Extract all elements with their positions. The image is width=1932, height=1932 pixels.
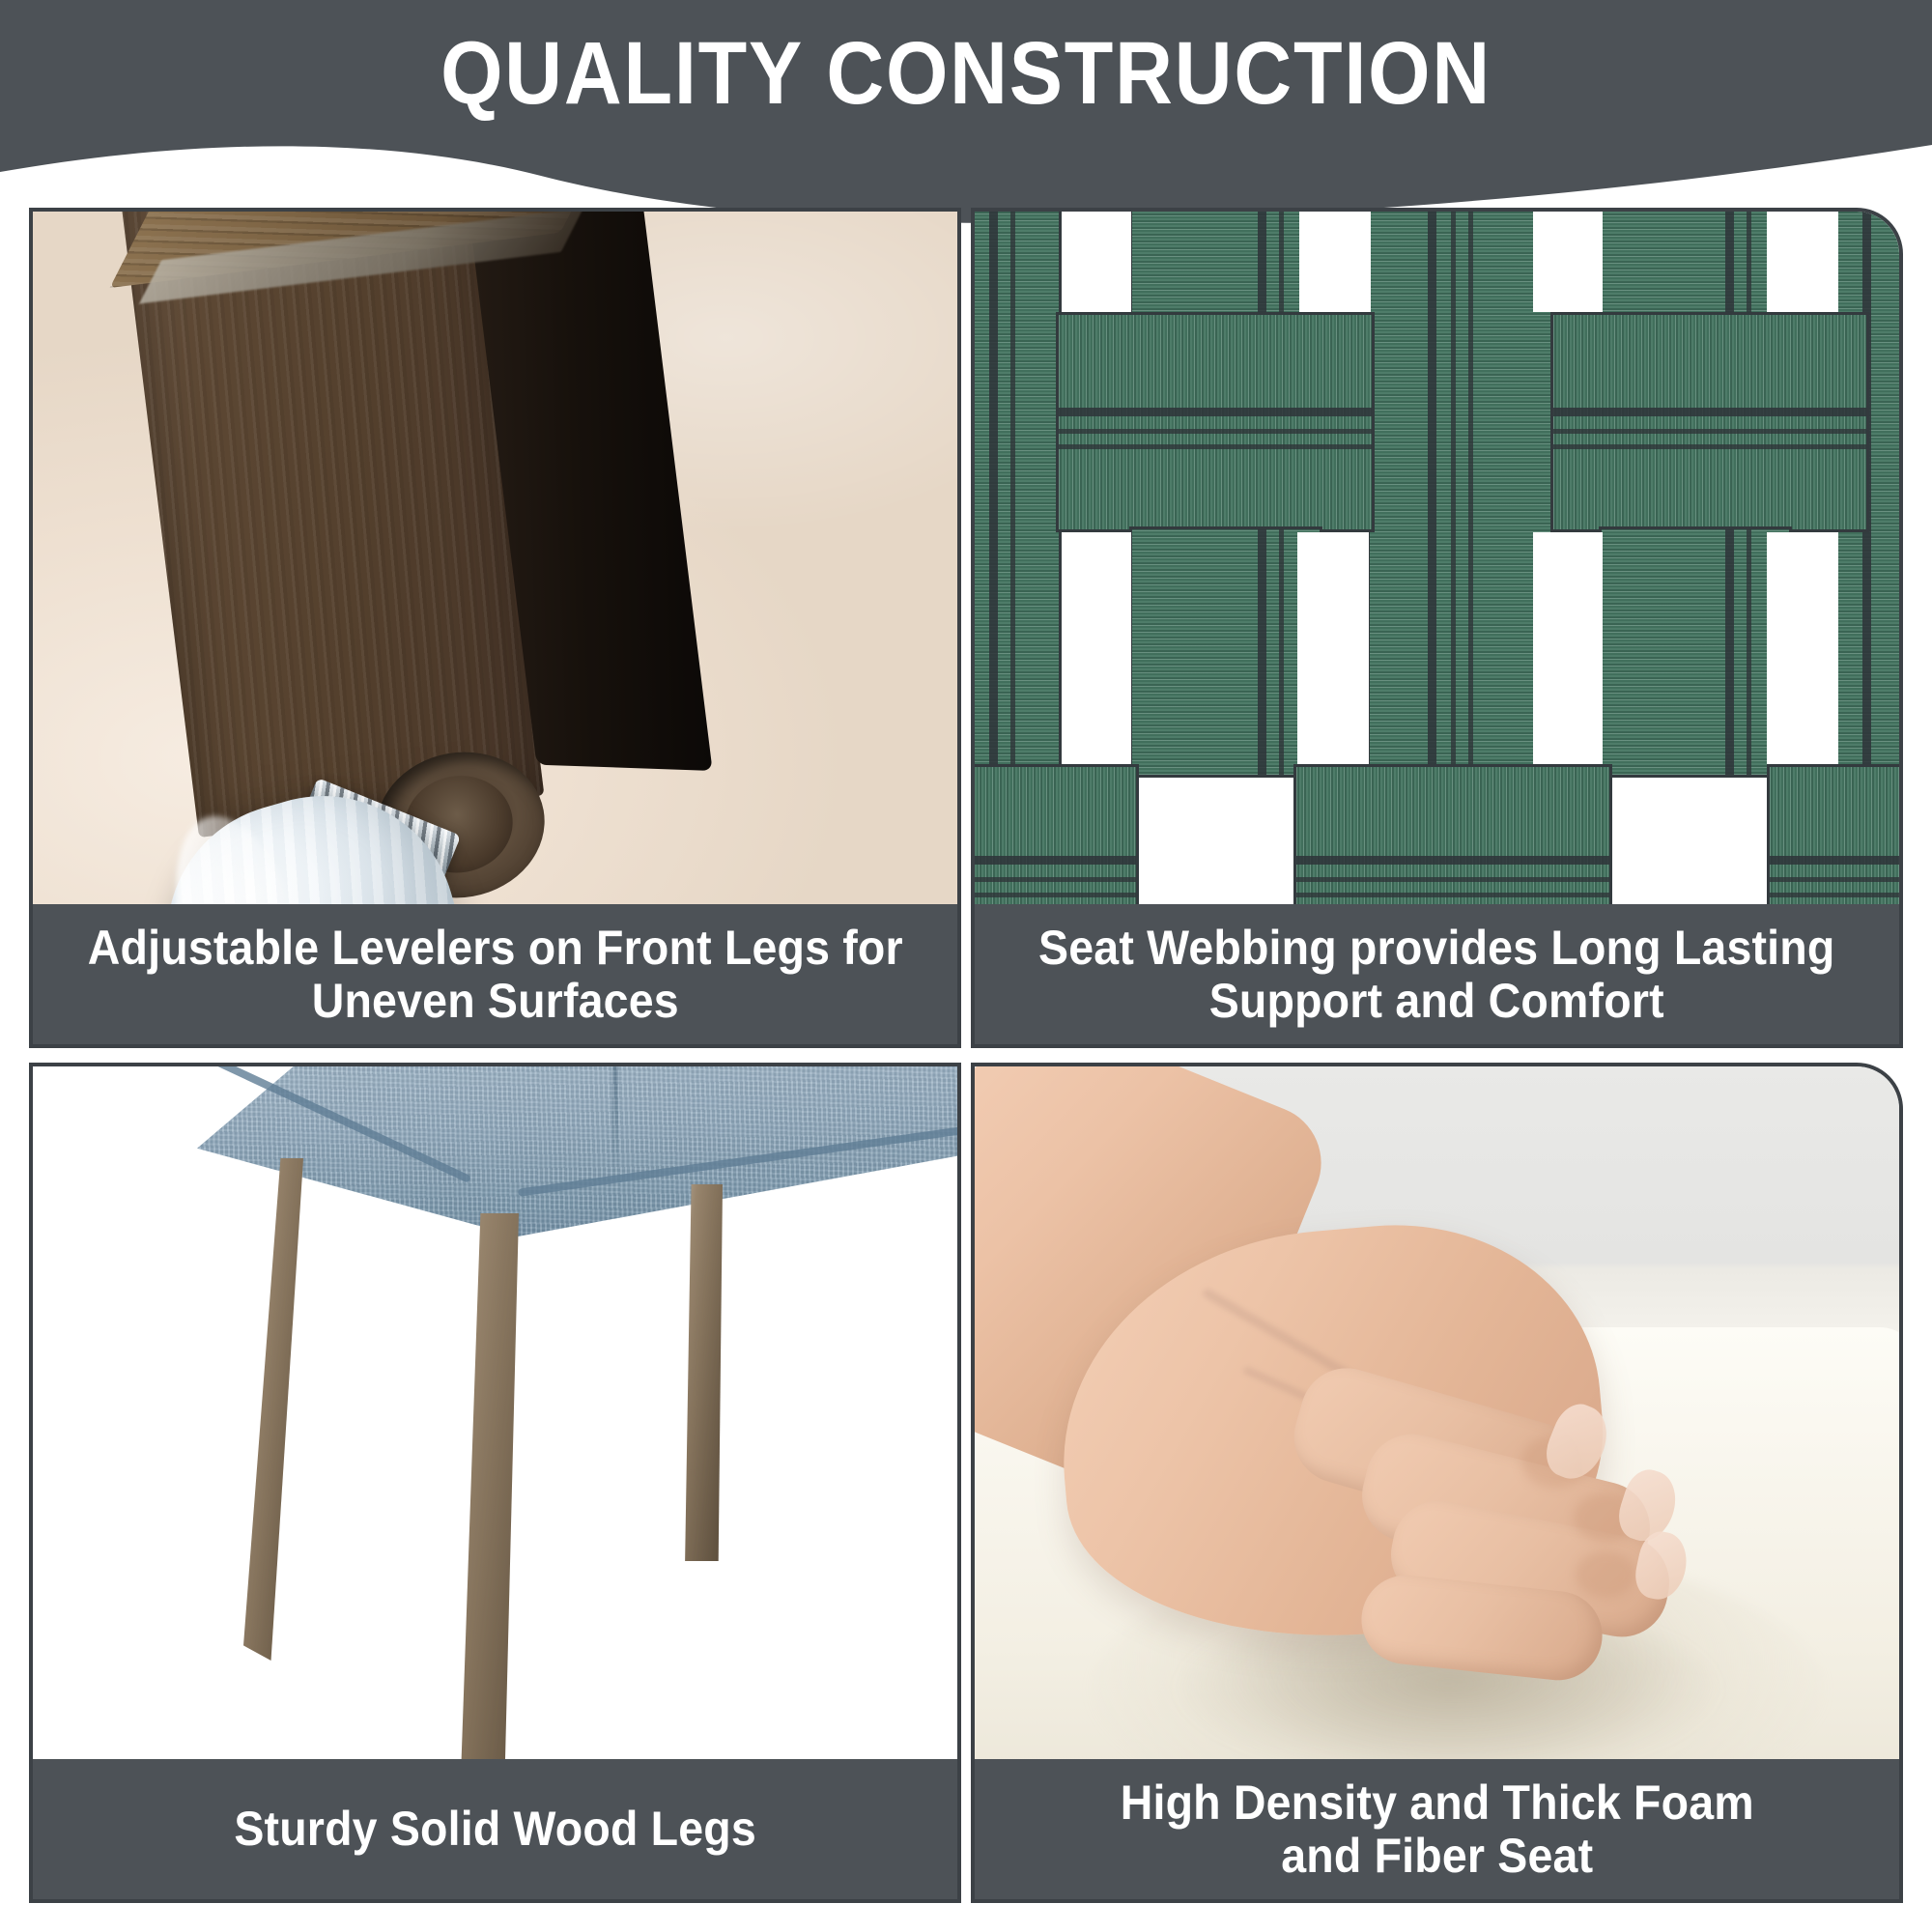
webbing-band — [1059, 429, 1372, 434]
panel-caption: Seat Webbing provides Long Lasting Suppo… — [975, 904, 1899, 1044]
webbing-gap — [1533, 532, 1603, 764]
webbing-horizontal-strap — [1056, 312, 1375, 532]
webbing-vertical-strap — [1129, 526, 1322, 778]
caption-line: and Fiber Seat — [1120, 1830, 1753, 1883]
webbing-gap — [1062, 212, 1131, 312]
panel-caption: Adjustable Levelers on Front Legs for Un… — [33, 904, 957, 1044]
infographic-page: QUALITY CONSTRUCTION — [0, 0, 1932, 1932]
webbing-gap — [1297, 532, 1369, 764]
webbing-photo — [975, 212, 1899, 912]
webbing-horizontal-strap — [1550, 312, 1869, 532]
webbing-band — [1553, 429, 1866, 434]
caption-line: Uneven Surfaces — [87, 975, 902, 1028]
webbing-band — [1770, 893, 1899, 897]
webbing-band — [1296, 877, 1609, 882]
webbing-band — [1296, 893, 1609, 897]
webbing-horizontal-strap — [1767, 764, 1899, 912]
caption-line: Support and Comfort — [1038, 975, 1834, 1028]
webbing-vertical-strap — [1599, 526, 1792, 778]
webbing-band — [975, 877, 1136, 882]
feature-panel-solid-wood-legs[interactable]: Sturdy Solid Wood Legs — [29, 1063, 961, 1903]
panel-caption: High Density and Thick Foam and Fiber Se… — [975, 1759, 1899, 1899]
webbing-band — [1059, 444, 1372, 449]
webbing-band — [1553, 444, 1866, 449]
leveler-photo — [33, 212, 957, 912]
webbing-band — [1747, 529, 1751, 775]
feature-grid: Adjustable Levelers on Front Legs for Un… — [0, 0, 1932, 1932]
feature-panel-high-density-foam[interactable]: High Density and Thick Foam and Fiber Se… — [971, 1063, 1903, 1903]
webbing-horizontal-strap — [975, 764, 1139, 912]
webbing-band — [1553, 408, 1866, 416]
feature-panel-seat-webbing[interactable]: Seat Webbing provides Long Lasting Suppo… — [971, 208, 1903, 1048]
webbing-band — [1059, 408, 1372, 416]
webbing-gap — [1533, 212, 1603, 312]
caption-line: Adjustable Levelers on Front Legs for — [87, 922, 902, 975]
webbing-horizontal-strap — [1293, 764, 1612, 912]
webbing-band — [1725, 529, 1734, 775]
webbing-band — [975, 856, 1136, 865]
webbing-gap — [1767, 212, 1838, 312]
webbing-band — [1770, 877, 1899, 882]
knuckle — [1576, 1551, 1635, 1598]
feature-panel-adjustable-levelers[interactable]: Adjustable Levelers on Front Legs for Un… — [29, 208, 961, 1048]
webbing-gap — [1767, 532, 1838, 764]
seat-seam — [612, 1066, 618, 1188]
foam-photo — [975, 1066, 1899, 1767]
webbing-weave — [975, 212, 1899, 912]
webbing-gap — [1299, 212, 1371, 312]
wood-legs-photo — [33, 1066, 957, 1767]
panel-caption: Sturdy Solid Wood Legs — [33, 1759, 957, 1899]
caption-line: Sturdy Solid Wood Legs — [234, 1803, 756, 1856]
wood-leg-block — [118, 212, 682, 867]
webbing-band — [975, 893, 1136, 897]
caption-line: High Density and Thick Foam — [1120, 1776, 1753, 1830]
webbing-band — [1279, 529, 1284, 775]
caption-line: Seat Webbing provides Long Lasting — [1038, 922, 1834, 975]
webbing-band — [1296, 856, 1609, 865]
webbing-band — [1258, 529, 1266, 775]
webbing-band — [1770, 856, 1899, 865]
webbing-gap — [1062, 532, 1131, 764]
pressing-hand — [975, 1066, 1738, 1733]
